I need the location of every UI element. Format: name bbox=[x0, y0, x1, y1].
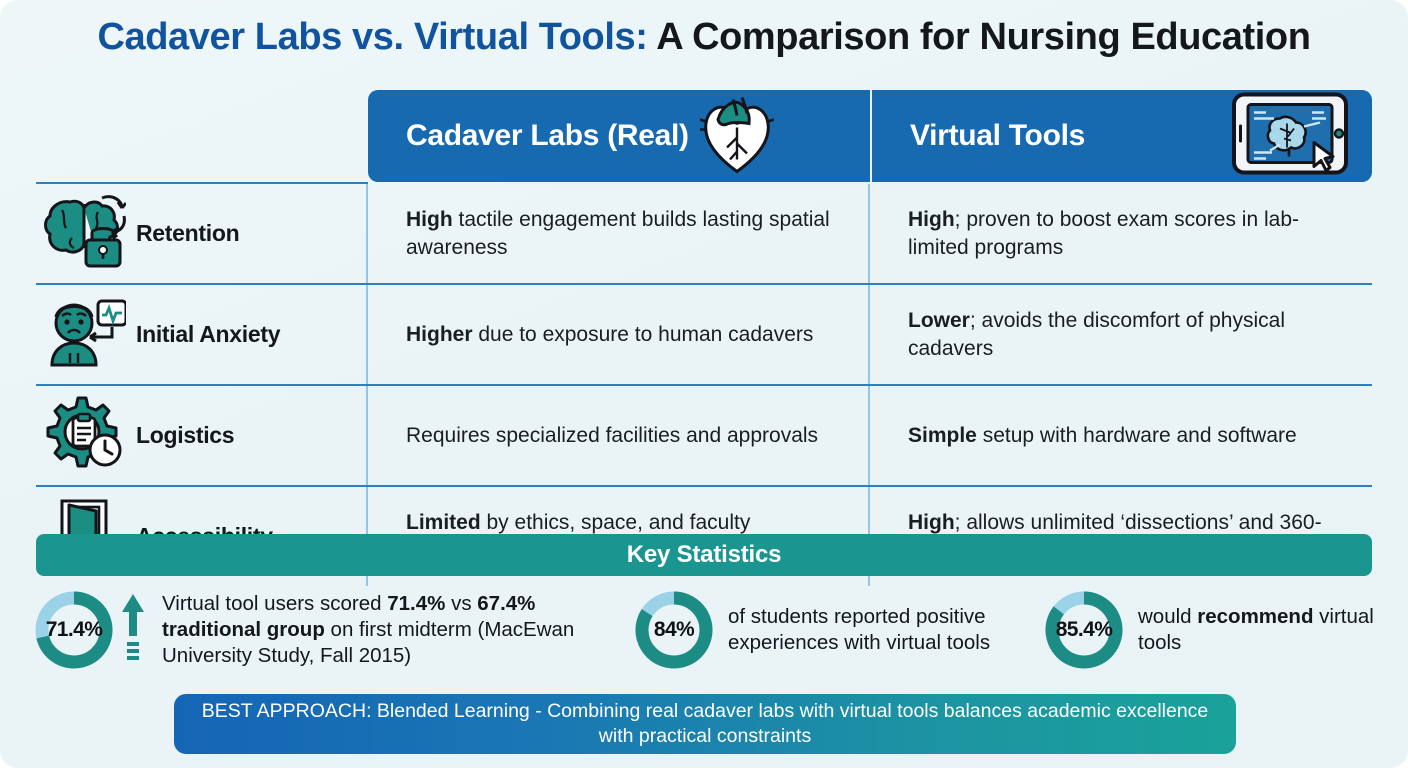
brain-lock-icon bbox=[40, 194, 126, 273]
header-spacer bbox=[36, 90, 368, 182]
donut-chart-2: 84% bbox=[630, 586, 718, 674]
stat-item: 85.4% would recommend virtual tools bbox=[1040, 586, 1378, 674]
cell-cadaver-logistics: Requires specialized facilities and appr… bbox=[368, 386, 870, 485]
cell-bold-lead: Limited bbox=[406, 511, 481, 534]
column-header-virtual-label: Virtual Tools bbox=[910, 119, 1085, 153]
tablet-brain-icon bbox=[1228, 91, 1352, 182]
heart-icon bbox=[700, 94, 774, 179]
stat-part: vs bbox=[445, 592, 477, 615]
cell-cadaver-retention: High tactile engagement builds lasting s… bbox=[368, 184, 870, 283]
donut-value-1: 71.4% bbox=[30, 586, 118, 674]
table-row: Retention High tactile engagement builds… bbox=[36, 184, 1372, 285]
statistics-row: 71.4% Virtual tool users scored 71.4% vs… bbox=[30, 586, 1378, 674]
best-approach-text: BEST APPROACH: Blended Learning - Combin… bbox=[200, 699, 1210, 750]
key-statistics-label: Key Statistics bbox=[627, 541, 782, 569]
cell-bold-lead: High bbox=[908, 511, 955, 534]
stat-part-bold: 71.4% bbox=[387, 592, 445, 615]
row-label-text: Retention bbox=[136, 220, 239, 247]
cell-cadaver-initial-anxiety: Higher due to exposure to human cadavers bbox=[368, 285, 870, 384]
table-row: Initial Anxiety Higher due to exposure t… bbox=[36, 285, 1372, 386]
column-header-cadaver-label: Cadaver Labs (Real) bbox=[406, 119, 689, 153]
cell-virtual-retention: High; proven to boost exam scores in lab… bbox=[870, 184, 1372, 283]
stat-text-2: of students reported positive experience… bbox=[718, 604, 1040, 656]
page-title: Cadaver Labs vs. Virtual Tools: A Compar… bbox=[0, 16, 1408, 59]
row-label-retention: Retention bbox=[36, 184, 368, 283]
gear-clipboard-clock-icon bbox=[40, 396, 126, 475]
stat-item: 71.4% Virtual tool users scored 71.4% vs… bbox=[30, 586, 630, 674]
stat-part: of students reported positive experience… bbox=[728, 605, 990, 654]
donut-value-2: 84% bbox=[630, 586, 718, 674]
stat-text-3: would recommend virtual tools bbox=[1128, 604, 1378, 656]
best-approach-banner: BEST APPROACH: Blended Learning - Combin… bbox=[174, 694, 1236, 754]
cell-bold-lead: Higher bbox=[406, 323, 473, 346]
stat-part: Virtual tool users scored bbox=[162, 592, 387, 615]
patient-monitor-icon bbox=[40, 295, 126, 374]
page-title-rest: A Comparison for Nursing Education bbox=[648, 16, 1311, 58]
row-label-text: Logistics bbox=[136, 422, 234, 449]
infographic-page: Cadaver Labs vs. Virtual Tools: A Compar… bbox=[0, 0, 1408, 768]
donut-chart-1: 71.4% bbox=[30, 586, 118, 674]
column-header-virtual: Virtual Tools bbox=[872, 90, 1372, 182]
cell-bold-lead: High bbox=[908, 208, 955, 231]
cell-bold-lead: High bbox=[406, 208, 453, 231]
key-statistics-banner: Key Statistics bbox=[36, 534, 1372, 576]
table-row: Logistics Requires specialized facilitie… bbox=[36, 386, 1372, 487]
cell-body: Requires specialized facilities and appr… bbox=[406, 424, 818, 447]
cell-bold-lead: Lower bbox=[908, 309, 970, 332]
cell-bold-lead: Simple bbox=[908, 424, 977, 447]
stat-part: would bbox=[1138, 605, 1197, 628]
stat-text-1: Virtual tool users scored 71.4% vs 67.4%… bbox=[152, 591, 630, 670]
donut-value-3: 85.4% bbox=[1040, 586, 1128, 674]
row-label-logistics: Logistics bbox=[36, 386, 368, 485]
stat-part-bold: recommend bbox=[1197, 605, 1313, 628]
column-header-cadaver: Cadaver Labs (Real) bbox=[368, 90, 870, 182]
cell-virtual-initial-anxiety: Lower; avoids the discomfort of physical… bbox=[870, 285, 1372, 384]
page-title-highlight: Cadaver Labs vs. Virtual Tools: bbox=[97, 16, 647, 58]
cell-body: setup with hardware and software bbox=[977, 424, 1297, 447]
up-arrow-icon bbox=[118, 592, 152, 669]
cell-body: ; proven to boost exam scores in lab-lim… bbox=[908, 208, 1299, 259]
cell-virtual-logistics: Simple setup with hardware and software bbox=[870, 386, 1372, 485]
comparison-table: Cadaver Labs (Real) Virtual Tools bbox=[36, 90, 1372, 586]
cell-body: due to exposure to human cadavers bbox=[473, 323, 814, 346]
donut-chart-3: 85.4% bbox=[1040, 586, 1128, 674]
table-header-row: Cadaver Labs (Real) Virtual Tools bbox=[36, 90, 1372, 182]
row-label-initial-anxiety: Initial Anxiety bbox=[36, 285, 368, 384]
row-label-text: Initial Anxiety bbox=[136, 321, 280, 348]
stat-item: 84% of students reported positive experi… bbox=[630, 586, 1040, 674]
cell-body: tactile engagement builds lasting spatia… bbox=[406, 208, 830, 259]
